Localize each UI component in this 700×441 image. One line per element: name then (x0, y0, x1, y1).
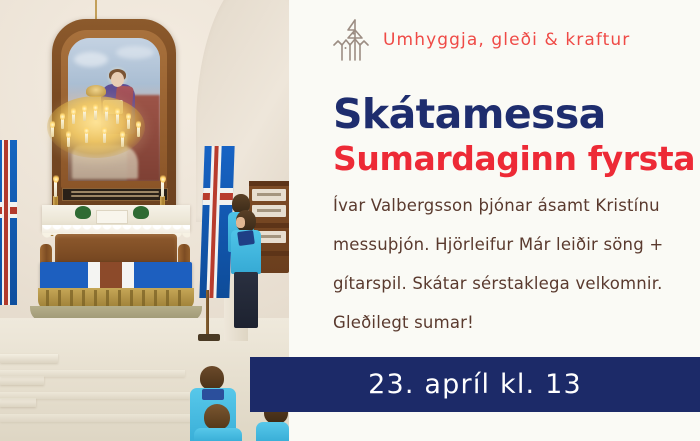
scout-seated-neckerchief-1 (202, 389, 224, 400)
chandelier (47, 96, 145, 158)
painting-christ-head (111, 72, 124, 87)
church-interior-photo (0, 0, 289, 441)
date-banner-text: 23. apríl kl. 13 (250, 357, 700, 412)
scout-standing-legs (234, 272, 258, 328)
date-banner: 23. apríl kl. 13 (250, 357, 700, 412)
painting-cloud (116, 46, 154, 59)
altar-open-book (96, 210, 128, 224)
description-line: Ívar Valbergsson þjónar ásamt Kristínu (333, 186, 700, 225)
church-icon (333, 18, 369, 62)
description-text: Ívar Valbergsson þjónar ásamt Kristínu m… (333, 186, 700, 342)
scout-seated-head-2 (204, 404, 230, 430)
icelandic-flag-left (0, 140, 17, 305)
scout-standing-face (236, 217, 245, 228)
description-line: Gleðilegt sumar! (333, 303, 700, 342)
description-line: gítarspil. Skátar sérstaklega velkomnir. (333, 264, 700, 303)
painting-cloud (74, 52, 108, 67)
page-title: Skátamessa (333, 94, 606, 135)
scout-neckerchief (237, 230, 255, 246)
tagline-row: Umhyggja, gleði & kraftur (333, 18, 630, 62)
tagline-text: Umhyggja, gleði & kraftur (383, 30, 630, 50)
flag-stand (198, 334, 220, 341)
page-subtitle: Sumardaginn fyrsta (333, 142, 695, 175)
poster: Umhyggja, gleði & kraftur Skátamessa Sum… (0, 0, 700, 441)
scout-seated-body-2 (194, 428, 242, 441)
description-line: messuþjón. Hjörleifur Már leiðir söng + (333, 225, 700, 264)
flag-pole (206, 290, 209, 338)
scout-seated-body-3 (256, 422, 289, 441)
scout-seated-head-1 (200, 366, 224, 390)
altarpiece-inscription-plate (62, 188, 168, 201)
altar-flowers-left (75, 206, 91, 219)
altar-flowers-right (133, 206, 149, 219)
